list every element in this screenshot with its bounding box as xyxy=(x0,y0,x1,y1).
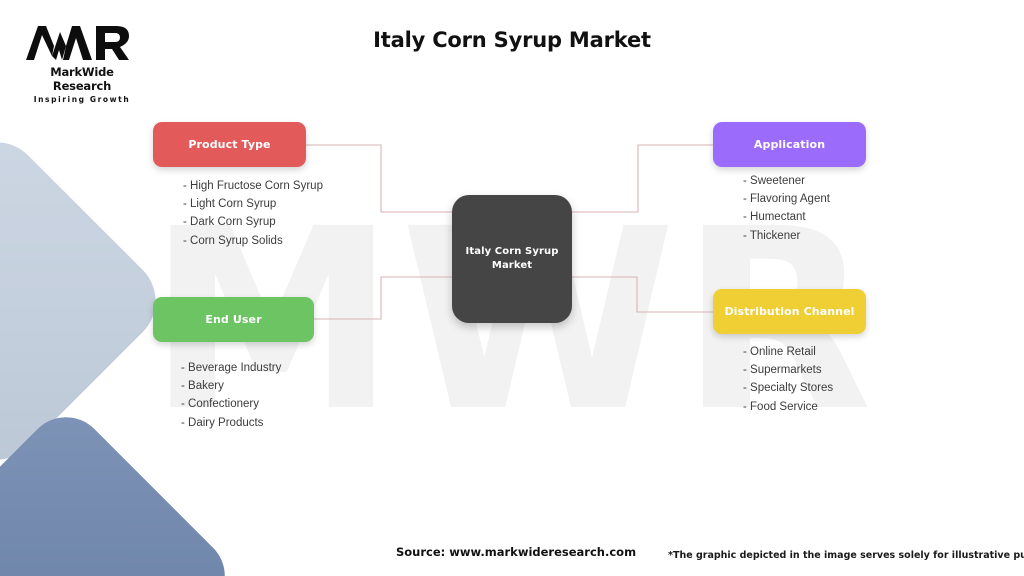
list-item: - Flavoring Agent xyxy=(743,190,830,208)
branch-items-distribution-channel: - Online Retail - Supermarkets - Special… xyxy=(743,343,833,417)
list-item: - Supermarkets xyxy=(743,361,833,379)
list-item: - Thickener xyxy=(743,227,830,245)
list-item: - Online Retail xyxy=(743,343,833,361)
branch-node-distribution-channel[interactable]: Distribution Channel xyxy=(713,289,866,334)
connector-end-user xyxy=(314,277,452,319)
branch-node-end-user[interactable]: End User xyxy=(153,297,314,342)
center-node[interactable]: Italy Corn Syrup Market xyxy=(452,195,572,323)
list-item: - Beverage Industry xyxy=(181,359,281,377)
branch-label-product-type: Product Type xyxy=(188,138,270,151)
connector-application xyxy=(572,145,713,212)
list-item: - Humectant xyxy=(743,209,830,227)
footer-source: Source: www.markwideresearch.com xyxy=(396,545,636,559)
center-node-label: Italy Corn Syrup Market xyxy=(452,245,572,274)
page-title: Italy Corn Syrup Market xyxy=(0,28,1024,52)
branch-items-end-user: - Beverage Industry - Bakery - Confectio… xyxy=(181,359,281,433)
list-item: - High Fructose Corn Syrup xyxy=(183,177,323,195)
list-item: - Light Corn Syrup xyxy=(183,195,323,213)
branch-items-application: - Sweetener - Flavoring Agent - Humectan… xyxy=(743,172,830,246)
list-item: - Food Service xyxy=(743,398,833,416)
list-item: - Dairy Products xyxy=(181,414,281,432)
branch-label-end-user: End User xyxy=(205,313,261,326)
list-item: - Bakery xyxy=(181,377,281,395)
list-item: - Specialty Stores xyxy=(743,380,833,398)
connector-distribution-channel xyxy=(572,277,713,312)
logo-tagline: Inspiring Growth xyxy=(22,95,142,104)
branch-label-application: Application xyxy=(754,138,825,151)
infographic-canvas: MWR MarkWide Research Inspiring Growth I… xyxy=(0,0,1024,576)
list-item: - Corn Syrup Solids xyxy=(183,232,323,250)
branch-label-distribution-channel: Distribution Channel xyxy=(724,305,854,318)
list-item: - Confectionery xyxy=(181,396,281,414)
list-item: - Dark Corn Syrup xyxy=(183,214,323,232)
branch-items-product-type: - High Fructose Corn Syrup - Light Corn … xyxy=(183,177,323,251)
logo-company-name: MarkWide Research xyxy=(22,65,142,93)
branch-node-product-type[interactable]: Product Type xyxy=(153,122,306,167)
list-item: - Sweetener xyxy=(743,172,830,190)
connector-product-type xyxy=(306,145,452,212)
branch-node-application[interactable]: Application xyxy=(713,122,866,167)
footer-disclaimer: *The graphic depicted in the image serve… xyxy=(668,550,1024,561)
